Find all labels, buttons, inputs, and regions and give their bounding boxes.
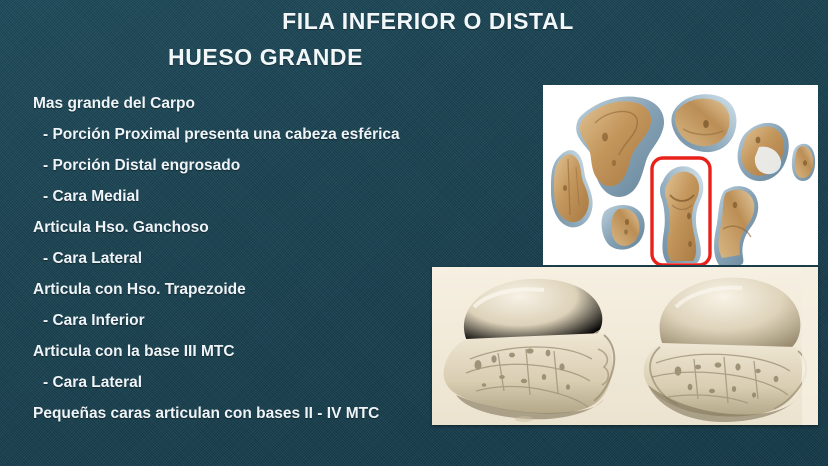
page-title-secondary: HUESO GRANDE: [168, 44, 363, 71]
bone-pisiform: [792, 144, 815, 181]
content-line: - Porción Proximal presenta una cabeza e…: [33, 119, 503, 150]
carpal-bones-illustration: [543, 85, 818, 265]
content-line: Articula Hso. Ganchoso: [33, 212, 503, 243]
capitate-bone-svg: [432, 267, 818, 425]
slide-canvas: FILA INFERIOR O DISTAL HUESO GRANDE Mas …: [0, 0, 828, 466]
content-line: - Porción Distal engrosado: [33, 150, 503, 181]
content-line: Mas grande del Carpo: [33, 88, 503, 119]
carpal-bones-svg: [543, 85, 818, 265]
capitate-bone-photograph: [432, 267, 818, 425]
page-title-primary: FILA INFERIOR O DISTAL: [0, 8, 828, 35]
content-line: - Cara Medial: [33, 181, 503, 212]
